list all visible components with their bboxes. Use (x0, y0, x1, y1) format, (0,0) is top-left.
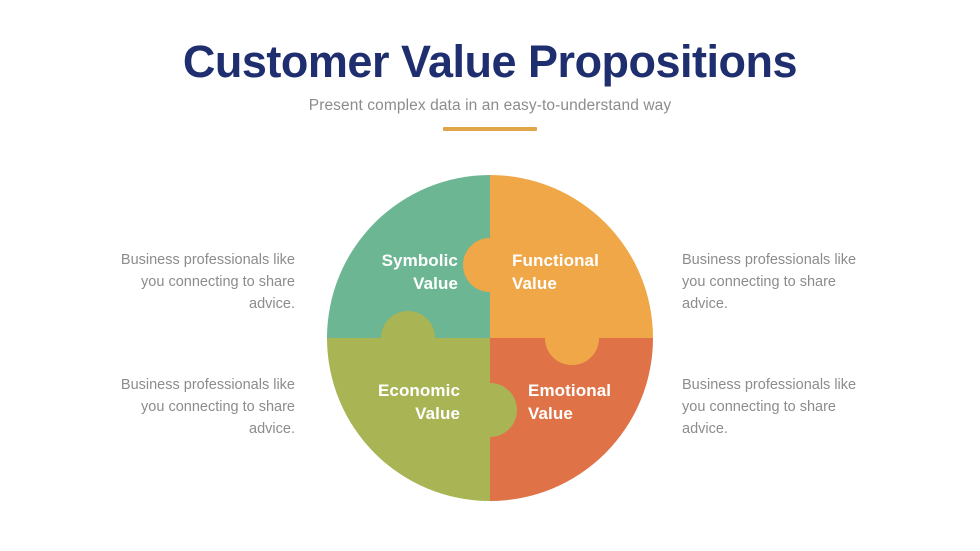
quadrant-label-emotional-line1: Emotional (528, 381, 611, 400)
quadrant-label-functional: Functional Value (512, 250, 640, 296)
puzzle-circle-diagram (327, 175, 653, 501)
quadrant-label-symbolic-line2: Value (338, 273, 458, 296)
quadrant-label-emotional-line2: Value (528, 403, 654, 426)
header: Customer Value Propositions Present comp… (0, 38, 980, 115)
quadrant-label-emotional: Emotional Value (528, 380, 654, 426)
quadrant-label-symbolic-line1: Symbolic (382, 251, 458, 270)
quadrant-label-economic-line1: Economic (378, 381, 460, 400)
description-bottom-right: Business professionals like you connecti… (682, 374, 860, 440)
page-subtitle: Present complex data in an easy-to-under… (0, 97, 980, 115)
page-title: Customer Value Propositions (0, 38, 980, 85)
quadrant-label-functional-line1: Functional (512, 251, 599, 270)
description-top-right: Business professionals like you connecti… (682, 249, 860, 315)
slide-canvas: Customer Value Propositions Present comp… (0, 0, 980, 551)
quadrant-label-symbolic: Symbolic Value (338, 250, 458, 296)
description-bottom-left: Business professionals like you connecti… (117, 374, 295, 440)
title-divider (443, 127, 537, 131)
quadrant-label-economic-line2: Value (330, 403, 460, 426)
description-top-left: Business professionals like you connecti… (117, 249, 295, 315)
quadrant-label-economic: Economic Value (330, 380, 460, 426)
quadrant-label-functional-line2: Value (512, 273, 640, 296)
